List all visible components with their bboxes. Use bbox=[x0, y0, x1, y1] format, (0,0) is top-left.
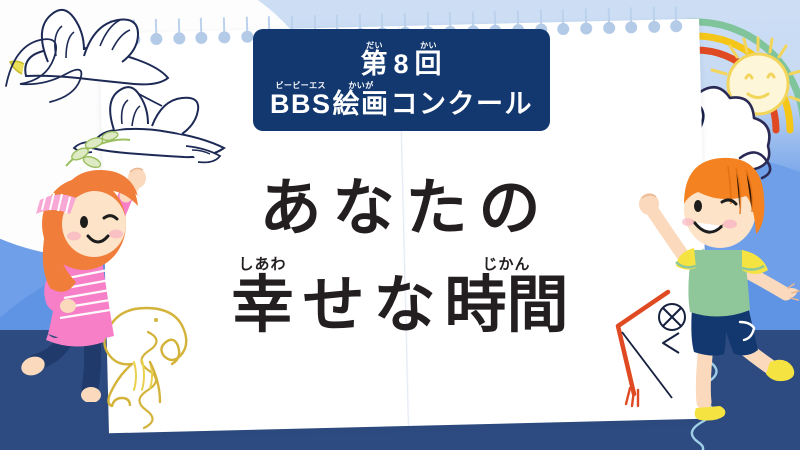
kanji-jikan: 時間 bbox=[445, 275, 569, 337]
binding-pin-icon bbox=[602, 8, 615, 34]
binding-pin-icon bbox=[670, 6, 683, 32]
banner-line-1: だい 第 8 かい 回 bbox=[360, 42, 442, 78]
bbs-ruby-group: ビービーエス BBS bbox=[270, 82, 332, 118]
bbs-acronym: BBS bbox=[270, 91, 332, 118]
boy-character bbox=[636, 150, 800, 425]
kanji-kai: 回 bbox=[415, 51, 443, 78]
shiawa-ruby-group: しあわ 幸 bbox=[231, 257, 293, 337]
concours-word: コンクール bbox=[391, 91, 534, 118]
title-banner: だい 第 8 かい 回 ビービーエス BBS かいが 絵画 コンクール bbox=[253, 29, 550, 131]
poster-canvas: だい 第 8 かい 回 ビービーエス BBS かいが 絵画 コンクール あなたの bbox=[0, 0, 800, 450]
scribble-loop-icon bbox=[2, 24, 152, 104]
banner-line-2: ビービーエス BBS かいが 絵画 コンクール bbox=[270, 82, 533, 118]
dai-ruby-group: だい 第 bbox=[360, 42, 388, 78]
binding-pin-icon bbox=[241, 17, 254, 43]
binding-pin-icon bbox=[218, 17, 231, 43]
ruby-jikan: じかん bbox=[483, 257, 531, 272]
binding-pin-icon bbox=[557, 9, 570, 35]
ruby-shiawa: しあわ bbox=[238, 257, 286, 272]
kanji-dai: 第 bbox=[360, 51, 388, 78]
kana-se: せ bbox=[302, 275, 364, 337]
binding-pin-icon bbox=[580, 8, 593, 34]
kana-na: な bbox=[374, 275, 436, 337]
kaiga-ruby-group: かいが 絵画 bbox=[333, 82, 390, 118]
kanji-shiawase: 幸 bbox=[231, 275, 293, 337]
girl-character bbox=[6, 152, 166, 402]
kanji-kaiga: 絵画 bbox=[333, 91, 390, 118]
binding-pin-icon bbox=[625, 7, 638, 33]
edition-number: 8 bbox=[393, 51, 409, 78]
jikan-ruby-group: じかん 時間 bbox=[445, 257, 569, 337]
binding-pin-icon bbox=[647, 7, 660, 33]
kai-ruby-group: かい 回 bbox=[415, 42, 443, 78]
